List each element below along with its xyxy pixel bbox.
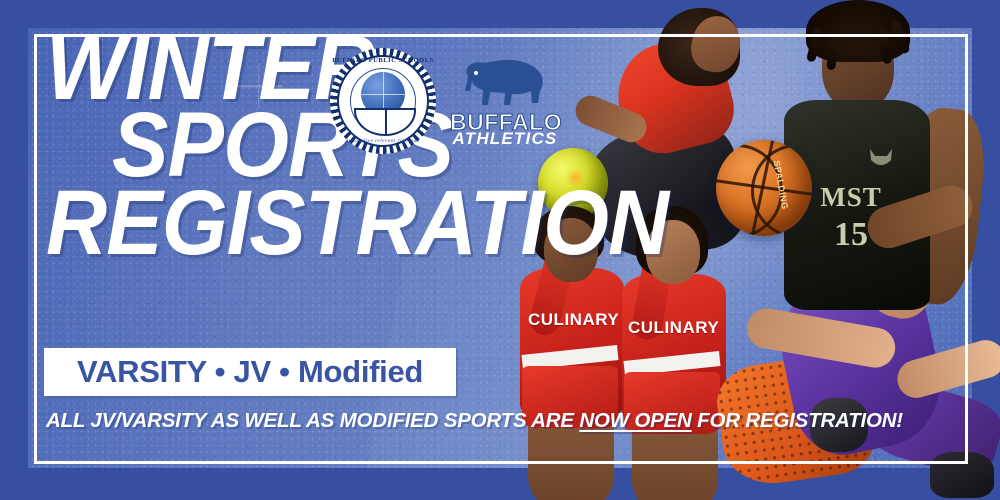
seal-bottom-text: innovative relevant rigorous [330,138,436,144]
athletics-logo-line-2: ATHLETICS [450,129,560,149]
bison-icon [456,51,554,111]
levels-banner: VARSITY • JV • Modified [44,348,456,396]
buffalo-athletics-logo: BUFFALO ATHLETICS [450,51,560,151]
winter-sports-registration-poster: CULINARY CULINARY [0,0,1000,500]
registration-tagline: ALL JV/VARSITY AS WELL AS MODIFIED SPORT… [46,408,903,433]
seal-top-text: BUFFALO PUBLIC SCHOOLS [330,57,436,64]
logo-group: BUFFALO PUBLIC SCHOOLS innovative releva… [330,48,560,154]
cheer-uniform-text: CULINARY [628,318,719,338]
tagline-part-2: FOR REGISTRATION! [692,409,903,432]
buffalo-public-schools-seal: BUFFALO PUBLIC SCHOOLS innovative releva… [330,48,436,154]
cheer-uniform-text: CULINARY [528,310,619,330]
wrestling-shoe [930,452,994,498]
wolf-mascot-icon [866,146,896,172]
levels-banner-text: VARSITY • JV • Modified [77,354,423,390]
tagline-part-1: ALL JV/VARSITY AS WELL AS MODIFIED SPORT… [46,409,579,432]
player-hair [806,0,910,62]
basketball-ball: SPALDING [716,140,812,236]
tagline-emphasis: NOW OPEN [579,409,691,432]
headline-line-3: REGISTRATION [46,185,668,262]
